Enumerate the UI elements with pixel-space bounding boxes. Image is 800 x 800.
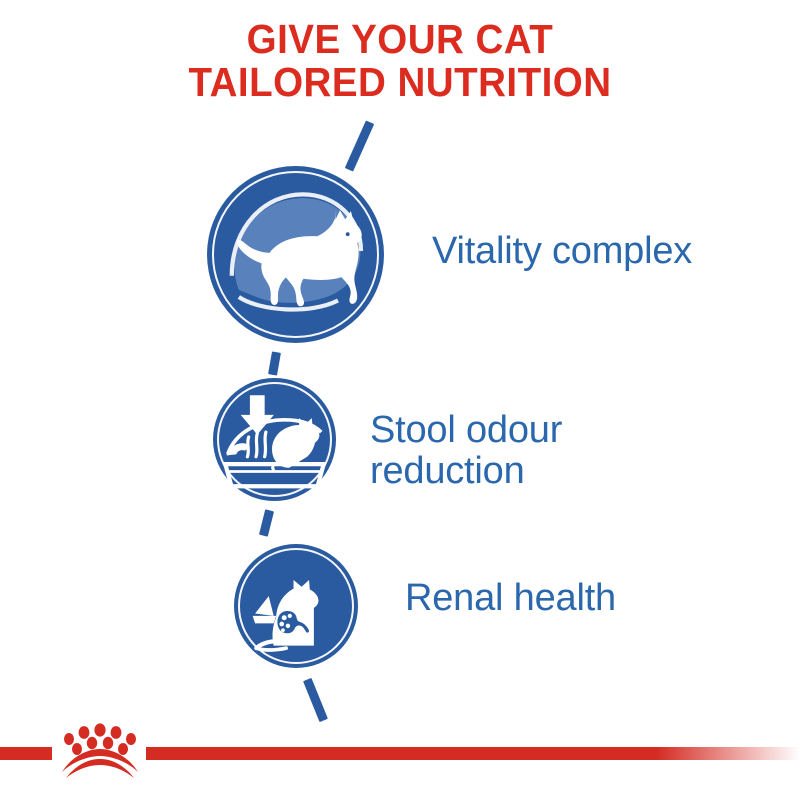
- benefit-icon-2: [213, 378, 336, 501]
- infographic-canvas: GIVE YOUR CAT TAILORED NUTRITION Vitalit…: [0, 0, 800, 800]
- benefit-icon-3: [234, 544, 358, 668]
- title-line-1: GIVE YOUR CAT: [24, 18, 776, 61]
- page-title: GIVE YOUR CAT TAILORED NUTRITION: [0, 18, 800, 105]
- footer-bar-left: [0, 747, 52, 760]
- royal-canin-crown-logo: [54, 718, 146, 780]
- benefit-label-3: Renal health: [405, 578, 765, 619]
- benefit-label-1: Vitality complex: [432, 231, 792, 272]
- cat-kidney-renal-icon: [234, 544, 358, 668]
- connector-dash-bottom: [303, 678, 328, 722]
- crown-icon: [54, 718, 146, 780]
- title-line-2: TAILORED NUTRITION: [24, 61, 776, 104]
- benefit-icon-1: [207, 166, 384, 343]
- benefit-label-2: Stool odour reduction: [370, 410, 730, 492]
- connector-dash-1-2: [268, 351, 281, 375]
- cat-litter-box-odour-icon: [213, 378, 336, 501]
- footer-bar-right: [146, 747, 800, 760]
- connector-dash-top: [345, 120, 374, 171]
- connector-dash-2-3: [259, 509, 274, 536]
- walking-cat-icon: [207, 166, 384, 343]
